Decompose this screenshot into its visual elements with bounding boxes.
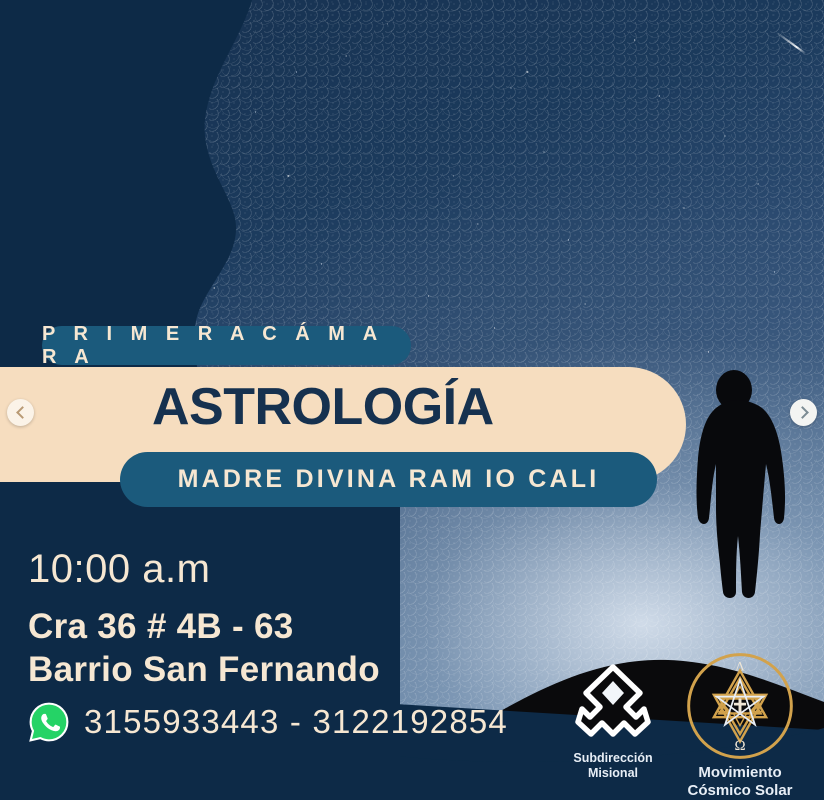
logo-caption-line-2: Cósmico Solar bbox=[687, 782, 792, 799]
organization-logos: Subdirección Misional bbox=[548, 650, 814, 800]
chevron-left-icon bbox=[16, 406, 29, 419]
logo-movimiento-cosmico-solar: Λ Ω Movimiento Cósmico Solar bbox=[670, 650, 810, 799]
logo-caption-line-1: Subdirección bbox=[573, 751, 652, 765]
chevron-right-icon bbox=[796, 406, 809, 419]
subdireccion-misional-emblem-icon bbox=[574, 662, 652, 746]
contact-row: 3155933443 - 3122192854 bbox=[28, 701, 508, 743]
carousel-prev-button[interactable] bbox=[7, 399, 34, 426]
logo-caption-movimiento: Movimiento Cósmico Solar bbox=[670, 764, 810, 799]
logo-subdireccion-misional: Subdirección Misional bbox=[558, 662, 668, 781]
carousel-next-button[interactable] bbox=[790, 399, 817, 426]
whatsapp-icon bbox=[28, 701, 70, 743]
person-silhouette bbox=[686, 368, 796, 618]
badge-primera-camara: P R I M E R A C Á M A R A bbox=[42, 326, 411, 365]
badge-madre-divina: MADRE DIVINA RAM IO CALI bbox=[120, 452, 657, 507]
logo-caption-subdireccion: Subdirección Misional bbox=[558, 751, 668, 781]
phone-numbers: 3155933443 - 3122192854 bbox=[84, 703, 508, 741]
promo-poster-slide: P R I M E R A C Á M A R A ASTROLOGÍA MAD… bbox=[0, 0, 824, 800]
logo-caption-line-2: Misional bbox=[588, 766, 638, 780]
address-line-1: Cra 36 # 4B - 63 bbox=[28, 606, 508, 649]
omega-symbol: Ω bbox=[734, 738, 745, 754]
address-line-2: Barrio San Fernando bbox=[28, 649, 508, 692]
page-title: ASTROLOGÍA bbox=[152, 379, 472, 435]
cosmic-solar-hexagram-pentagram-icon: Λ Ω bbox=[684, 650, 796, 762]
lambda-symbol: Λ bbox=[735, 659, 745, 674]
logo-caption-line-1: Movimiento bbox=[698, 764, 781, 781]
event-time: 10:00 a.m bbox=[28, 548, 508, 590]
event-details: 10:00 a.m Cra 36 # 4B - 63 Barrio San Fe… bbox=[28, 548, 508, 743]
